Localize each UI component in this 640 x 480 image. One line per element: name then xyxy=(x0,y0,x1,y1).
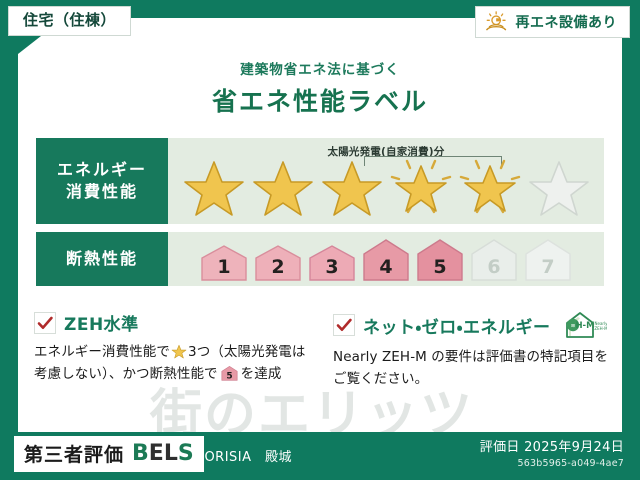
insulation-grade-4-number: 4 xyxy=(360,258,412,277)
evaluation-id: 563b5965-a049-4ae7 xyxy=(480,458,624,469)
insulation-grade-2-number: 2 xyxy=(252,258,304,277)
housing-type-chip: 住宅（住棟） xyxy=(8,6,131,36)
bels-logo: BELS xyxy=(132,441,194,466)
zeh-title: ZEH水準 xyxy=(64,310,139,335)
bels-logo-el: EL xyxy=(149,441,178,466)
energy-label-line1: エネルギー xyxy=(57,159,147,181)
star-empty-6 xyxy=(526,155,592,217)
insulation-grade-6: 6 xyxy=(468,236,520,282)
insulation-grade-scale: 1 2 3 4 xyxy=(198,236,574,282)
zeh-body-part3: を達成 xyxy=(241,366,282,382)
star-filled-1 xyxy=(181,155,247,217)
energy-label-root: 住宅（住棟） 再エネ設備あり 建築物省エネ法に基づく 省エネ性能ラベル エネ xyxy=(0,0,640,480)
inline-star-icon xyxy=(171,343,187,359)
zeh-body-part1: エネルギー消費性能で xyxy=(34,344,170,360)
bels-badge: 第三者評価 BELS xyxy=(14,436,204,472)
bels-jp-label: 第三者評価 xyxy=(24,440,124,467)
page-title: 省エネ性能ラベル xyxy=(0,82,640,118)
info-columns: ZEH水準 エネルギー消費性能で3つ（太陽光発電は考慮しない）、かつ断熱性能で5… xyxy=(34,310,610,390)
insulation-label-text: 断熱性能 xyxy=(66,248,138,270)
insulation-grade-3-number: 3 xyxy=(306,258,358,277)
performance-rows: エネルギー 消費性能 太陽光発電(自家消費)分 xyxy=(36,138,604,294)
title-block: 建築物省エネ法に基づく 省エネ性能ラベル xyxy=(0,58,640,118)
netzero-column: ネット・ゼロ・エネルギー ≋ H-M Nearly ZEH-M Nearly Z… xyxy=(333,310,610,390)
insulation-grade-2: 2 xyxy=(252,242,304,282)
insulation-grade-1-number: 1 xyxy=(198,258,250,277)
insulation-grade-1: 1 xyxy=(198,242,250,282)
zeh-m-logo-icon: ≋ H-M Nearly ZEH-M xyxy=(561,310,607,340)
zeh-heading: ZEH水準 xyxy=(34,310,311,335)
svg-text:H-M: H-M xyxy=(575,321,594,331)
energy-performance-label: エネルギー 消費性能 xyxy=(36,138,168,224)
check-icon xyxy=(35,313,55,333)
inline-grade-icon: 5 xyxy=(220,365,239,381)
insulation-grade-7: 7 xyxy=(522,236,574,282)
energy-stars-panel: 太陽光発電(自家消費)分 xyxy=(168,138,604,224)
insulation-grade-6-number: 6 xyxy=(468,258,520,277)
star-solar-5 xyxy=(457,155,523,217)
svg-text:ZEH-M: ZEH-M xyxy=(594,326,607,331)
insulation-grades-panel: 1 2 3 4 xyxy=(168,232,604,286)
evaluation-info: 評価日 2025年9月24日 563b5965-a049-4ae7 xyxy=(480,436,624,469)
title-subtitle: 建築物省エネ法に基づく xyxy=(0,58,640,78)
bels-logo-b: B xyxy=(132,441,149,466)
sun-icon xyxy=(484,11,510,33)
insulation-grade-3: 3 xyxy=(306,242,358,282)
svg-text:5: 5 xyxy=(226,371,232,380)
zeh-checkbox[interactable] xyxy=(34,312,56,334)
evaluation-date: 評価日 2025年9月24日 xyxy=(480,436,624,455)
renewable-energy-chip: 再エネ設備あり xyxy=(475,6,631,38)
check-icon xyxy=(334,315,354,335)
star-filled-3 xyxy=(319,155,385,217)
zeh-column: ZEH水準 エネルギー消費性能で3つ（太陽光発電は考慮しない）、かつ断熱性能で5… xyxy=(34,310,311,390)
renewable-energy-label: 再エネ設備あり xyxy=(516,12,618,32)
insulation-grade-5: 5 xyxy=(414,236,466,282)
netzero-body: Nearly ZEH-M の要件は評価書の特記項目をご覧ください。 xyxy=(333,347,610,390)
star-solar-4 xyxy=(388,155,454,217)
insulation-grade-7-number: 7 xyxy=(522,258,574,277)
insulation-performance-label: 断熱性能 xyxy=(36,232,168,286)
energy-label-line2: 消費性能 xyxy=(66,181,138,203)
insulation-performance-row: 断熱性能 1 2 3 xyxy=(36,232,604,286)
netzero-title: ネット・ゼロ・エネルギー xyxy=(363,313,551,338)
owner-name: TORISIA 殿城 xyxy=(196,446,292,465)
insulation-grade-4: 4 xyxy=(360,236,412,282)
zeh-body: エネルギー消費性能で3つ（太陽光発電は考慮しない）、かつ断熱性能で5を達成 xyxy=(34,342,311,385)
netzero-heading: ネット・ゼロ・エネルギー ≋ H-M Nearly ZEH-M xyxy=(333,310,610,340)
netzero-checkbox[interactable] xyxy=(333,314,355,336)
insulation-grade-5-number: 5 xyxy=(414,258,466,277)
bels-logo-s: S xyxy=(178,441,194,466)
footer: 第三者評価 BELS TORISIA 殿城 評価日 2025年9月24日 563… xyxy=(0,432,640,480)
star-filled-2 xyxy=(250,155,316,217)
energy-performance-row: エネルギー 消費性能 太陽光発電(自家消費)分 xyxy=(36,138,604,224)
